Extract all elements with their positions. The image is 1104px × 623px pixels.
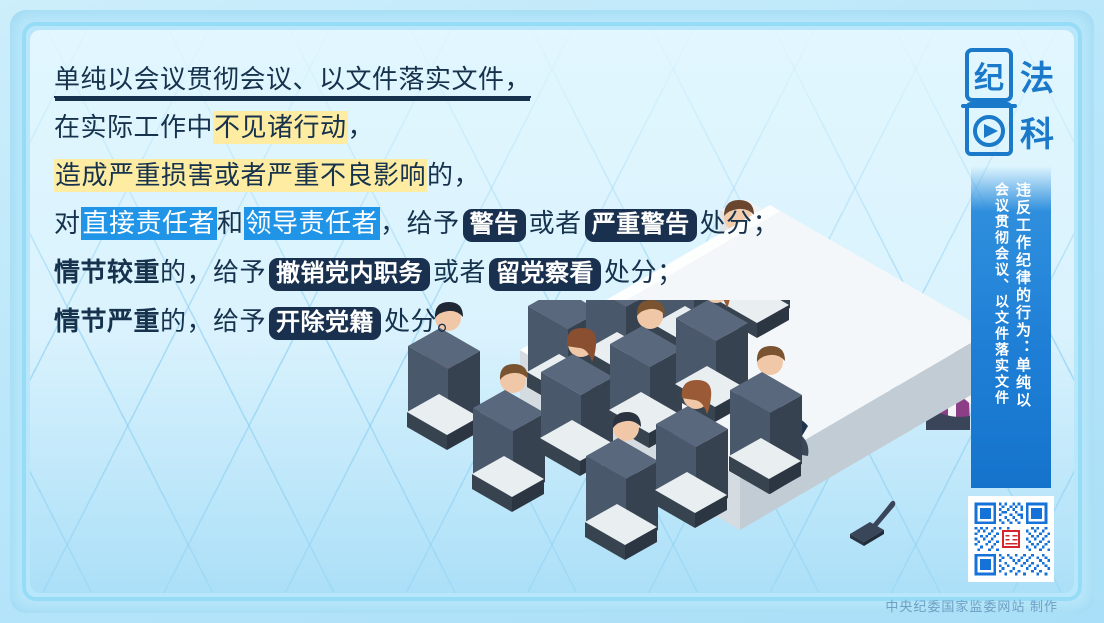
penalty-badge-removal-from-party-post: 撤销党内职务 — [269, 258, 430, 291]
text-line-5: 情节较重的，给予撤销党内职务或者留党察看处分； — [54, 249, 754, 298]
segment-plain: 的，给予 — [160, 307, 266, 336]
audience-seating-illustration — [400, 300, 870, 620]
segment-highlight-yellow: 造成严重损害或者严重不良影响 — [54, 159, 427, 192]
text-line-6: 情节严重的，给予开除党籍处分。 — [54, 298, 754, 347]
segment-plain: 的， — [427, 161, 480, 190]
jifa-baike-logo[interactable]: 纪 法 科 — [961, 48, 1061, 160]
segment-plain: 或者 — [433, 258, 486, 287]
segment-plain: 对 — [54, 209, 81, 238]
segment-highlight-blue: 直接责任者 — [81, 207, 218, 240]
text-line-2: 在实际工作中不见诸行动， — [54, 104, 754, 152]
segment-plain: 处分； — [604, 258, 684, 287]
poster-root: 单纯以会议贯彻会议、以文件落实文件， 在实际工作中不见诸行动， 造成严重损害或者… — [0, 0, 1104, 623]
segment-plain: 或者 — [529, 209, 582, 238]
text-line-3: 造成严重损害或者严重不良影响的， — [54, 152, 754, 200]
main-text-block: 单纯以会议贯彻会议、以文件落实文件， 在实际工作中不见诸行动， 造成严重损害或者… — [54, 56, 754, 347]
segment-plain: 在实际工作中 — [54, 113, 213, 142]
qr-code[interactable] — [968, 496, 1054, 582]
segment-underlined: 单纯以会议贯彻会议、以文件落实文件， — [54, 65, 531, 98]
segment-highlight-yellow: 不见诸行动 — [213, 111, 348, 144]
text-line-4: 对直接责任者和领导责任者，给予警告或者严重警告处分； — [54, 200, 754, 249]
right-sidebar: 纪 法 科 违反工作纪律的行为：单纯以 会议贯彻会议、以文件落实文件 — [960, 48, 1062, 582]
segment-plain: ， — [348, 113, 375, 142]
segment-plain: 和 — [217, 209, 244, 238]
segment-plain: ，给予 — [380, 209, 460, 238]
credit-text: 中央纪委国家监委网站 制作 — [885, 596, 1058, 615]
text-line-1: 单纯以会议贯彻会议、以文件落实文件， — [54, 56, 754, 104]
segment-bold: 情节严重 — [54, 307, 160, 336]
svg-text:法: 法 — [1020, 60, 1054, 98]
banner-column-left: 会议贯彻会议、以文件落实文件 — [992, 182, 1009, 488]
segment-plain: 的，给予 — [160, 258, 266, 287]
penalty-badge-expulsion: 开除党籍 — [269, 307, 381, 340]
svg-text:科: 科 — [1020, 116, 1054, 154]
vertical-title-banner: 违反工作纪律的行为：单纯以 会议贯彻会议、以文件落实文件 — [971, 166, 1051, 488]
svg-text:纪: 纪 — [974, 62, 1004, 95]
segment-highlight-blue: 领导责任者 — [244, 207, 381, 240]
banner-column-right: 违反工作纪律的行为：单纯以 — [1013, 182, 1030, 488]
segment-bold: 情节较重 — [54, 258, 160, 287]
penalty-badge-warning: 警告 — [463, 209, 526, 242]
penalty-badge-probation: 留党察看 — [489, 258, 601, 291]
segment-plain: 处分。 — [384, 307, 464, 336]
penalty-badge-serious-warning: 严重警告 — [585, 209, 697, 242]
segment-plain: 处分； — [700, 209, 780, 238]
